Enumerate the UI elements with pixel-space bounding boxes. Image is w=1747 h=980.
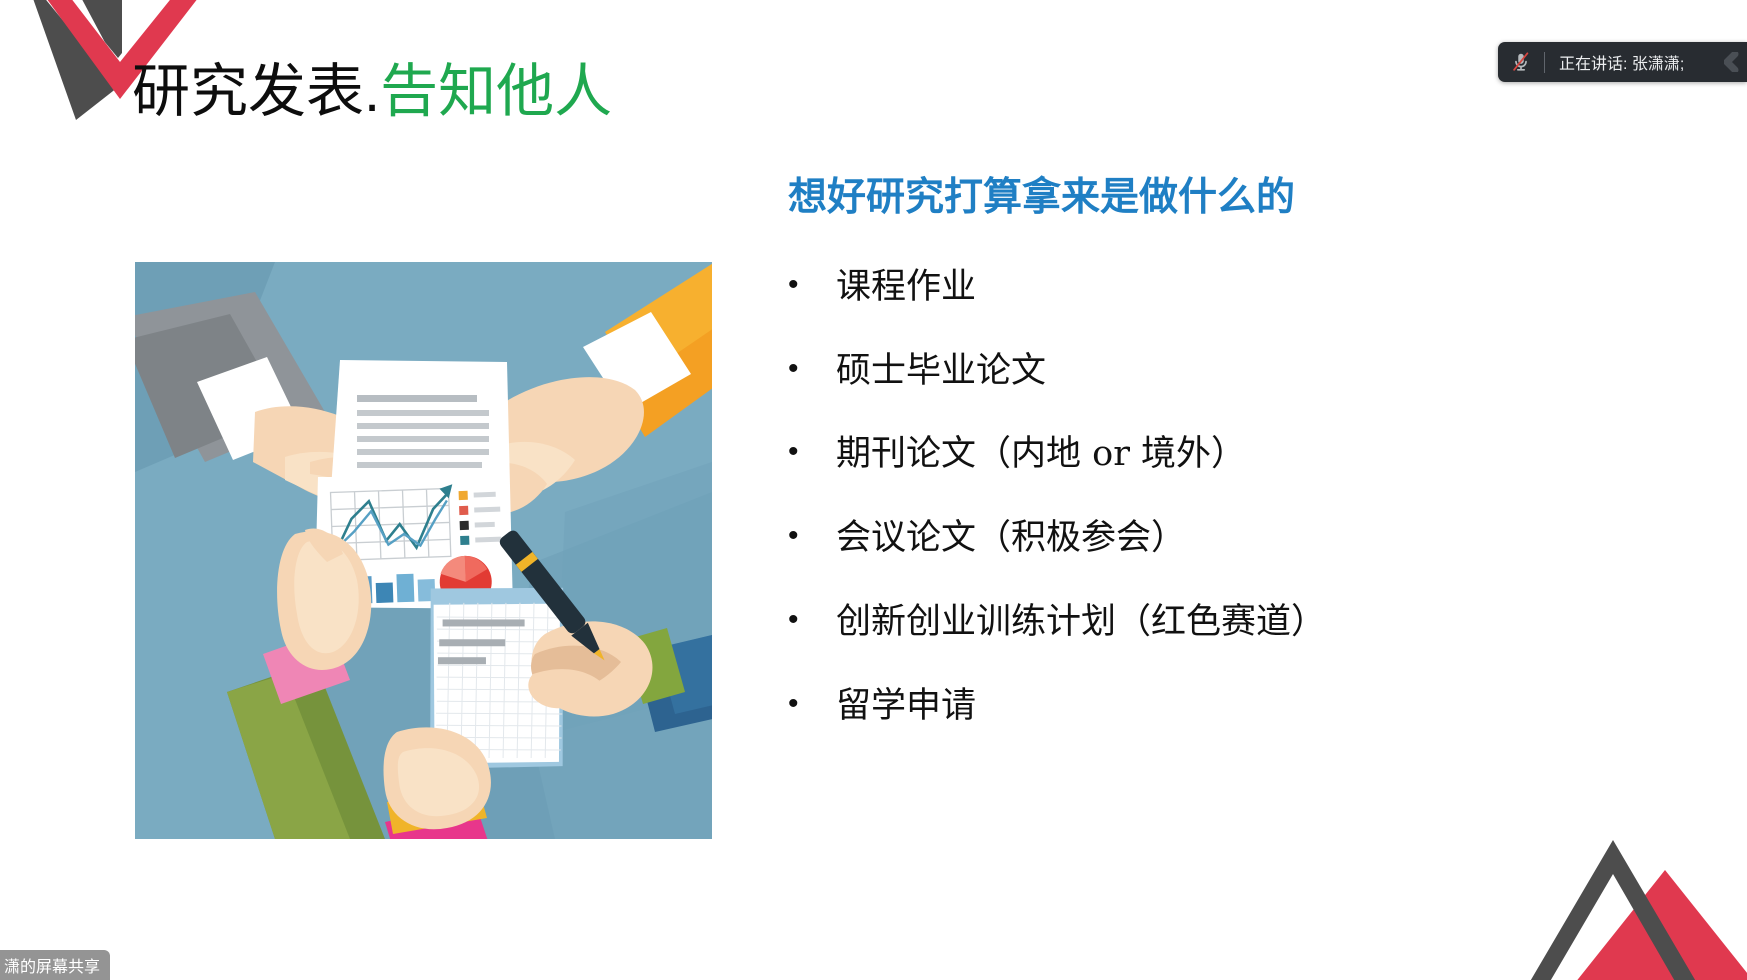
presentation-slide: 研究发表.告知他人 <box>0 0 1747 980</box>
bullet-marker-icon: • <box>788 266 836 304</box>
page-title: 研究发表.告知他人 <box>132 60 612 124</box>
bottom-right-chevron-decoration <box>1517 830 1747 980</box>
slide-content-column: 想好研究打算拿来是做什么的 • 课程作业 • 硕士毕业论文 • 期刊论文（内地 … <box>788 175 1688 768</box>
content-heading: 想好研究打算拿来是做什么的 <box>788 175 1688 222</box>
bullet-marker-icon: • <box>788 433 836 471</box>
list-item: • 硕士毕业论文 <box>788 350 1688 394</box>
list-item-label: 创新创业训练计划（红色赛道） <box>836 601 1688 645</box>
list-item: • 留学申请 <box>788 685 1688 729</box>
bullet-list: • 课程作业 • 硕士毕业论文 • 期刊论文（内地 or 境外） • 会议论文（… <box>788 266 1688 729</box>
list-item-label: 会议论文（积极参会） <box>836 517 1688 561</box>
list-item: • 会议论文（积极参会） <box>788 517 1688 561</box>
list-item-label: 课程作业 <box>836 266 1688 310</box>
zoom-active-speaker-bar[interactable]: 正在讲话: 张潇潇; <box>1498 42 1747 82</box>
list-item: • 创新创业训练计划（红色赛道） <box>788 601 1688 645</box>
bullet-marker-icon: • <box>788 517 836 555</box>
bullet-marker-icon: • <box>788 601 836 639</box>
bullet-marker-icon: • <box>788 350 836 388</box>
list-item: • 期刊论文（内地 or 境外） <box>788 433 1688 477</box>
active-speaker-label: 正在讲话: 张潇潇; <box>1545 50 1717 74</box>
microphone-muted-icon[interactable] <box>1498 51 1544 73</box>
page-title-accent: 告知他人 <box>380 59 612 124</box>
list-item: • 课程作业 <box>788 266 1688 310</box>
list-item-label: 留学申请 <box>836 685 1688 729</box>
illustration-image <box>135 262 712 839</box>
bullet-marker-icon: • <box>788 685 836 723</box>
screen-share-label: 潇的屏幕共享 <box>4 953 100 977</box>
list-item-label: 硕士毕业论文 <box>836 350 1688 394</box>
page-title-primary: 研究发表. <box>132 59 380 124</box>
screen-share-status-badge[interactable]: 潇的屏幕共享 <box>0 950 110 980</box>
chevron-left-icon[interactable] <box>1717 52 1747 72</box>
list-item-label: 期刊论文（内地 or 境外） <box>836 433 1688 477</box>
